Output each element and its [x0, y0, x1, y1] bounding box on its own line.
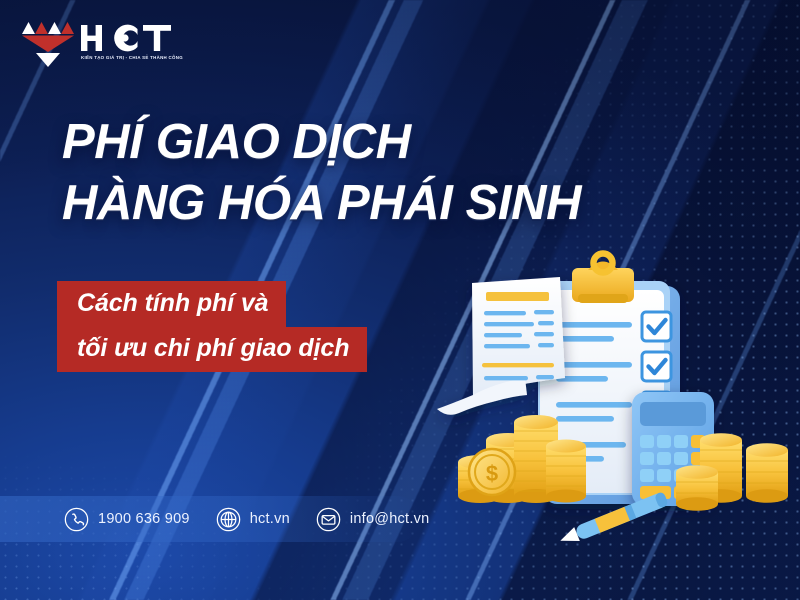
coin-stack	[546, 440, 586, 503]
headline-line-1: PHÍ GIAO DỊCH	[62, 112, 581, 173]
subtitle-line-2: tối ưu chi phí giao dịch	[57, 327, 367, 372]
contact-phone[interactable]: 1900 636 909	[64, 507, 190, 532]
checkbox-checked-1	[642, 312, 671, 341]
svg-text:$: $	[486, 461, 498, 486]
contact-website[interactable]: hct.vn	[216, 507, 290, 532]
logo-text-group: KIẾN TẠO GIÁ TRỊ - CHIA SẺ THÀNH CÔNG	[81, 20, 189, 60]
page-title: PHÍ GIAO DỊCH HÀNG HÓA PHÁI SINH	[62, 112, 581, 234]
checkbox-checked-2	[642, 352, 671, 381]
diamond-gem-icon	[22, 20, 74, 68]
subtitle-line-1: Cách tính phí và	[57, 281, 286, 327]
contact-email-label: info@hct.vn	[350, 511, 430, 527]
hct-wordmark	[81, 23, 189, 53]
globe-icon	[216, 507, 241, 532]
finance-checklist-illustration: $	[428, 250, 800, 550]
contact-website-label: hct.vn	[250, 511, 290, 527]
subtitle-block: Cách tính phí và tối ưu chi phí giao dịc…	[57, 281, 367, 372]
headline-line-2: HÀNG HÓA PHÁI SINH	[62, 173, 581, 234]
phone-icon	[64, 507, 89, 532]
coin-stack	[676, 465, 718, 511]
contact-bar: 1900 636 909 hct.vn info@hct.vn	[64, 496, 429, 542]
envelope-icon	[316, 507, 341, 532]
contact-phone-label: 1900 636 909	[98, 511, 190, 527]
brand-logo[interactable]: KIẾN TẠO GIÁ TRỊ - CHIA SẺ THÀNH CÔNG	[22, 20, 189, 68]
logo-tagline: KIẾN TẠO GIÁ TRỊ - CHIA SẺ THÀNH CÔNG	[81, 55, 189, 60]
dollar-coin: $	[469, 449, 515, 495]
contact-email[interactable]: info@hct.vn	[316, 507, 430, 532]
banner-canvas: KIẾN TẠO GIÁ TRỊ - CHIA SẺ THÀNH CÔNG PH…	[0, 0, 800, 600]
clipboard-clip	[572, 254, 634, 304]
illustration-artwork: $	[428, 250, 800, 550]
coin-stack	[746, 443, 788, 503]
